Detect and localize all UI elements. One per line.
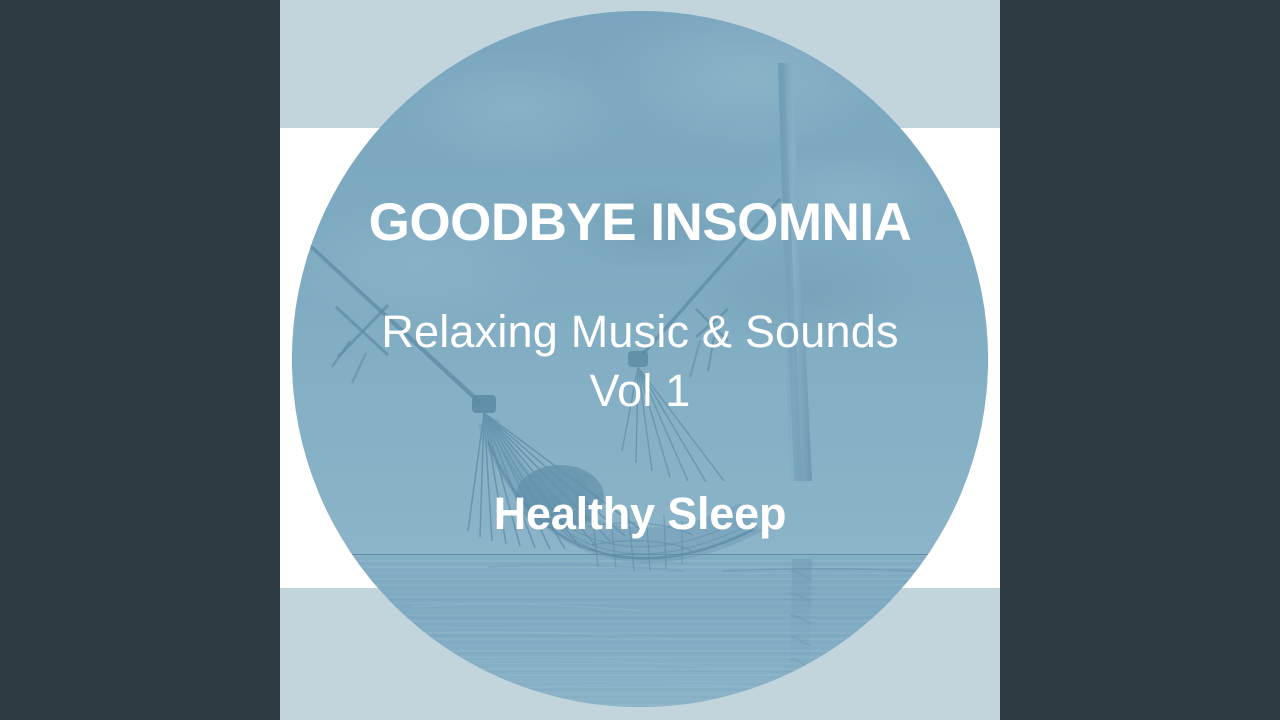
album-subtitle: Relaxing Music & Sounds Vol 1 [280, 302, 1000, 421]
letterbox-bar-right [1000, 0, 1280, 720]
album-artist-name: Healthy Sleep [280, 488, 1000, 540]
letterbox-bar-left [0, 0, 280, 720]
album-subtitle-line-2: Vol 1 [280, 361, 1000, 420]
video-player-frame: GOODBYE INSOMNIA Relaxing Music & Sounds… [0, 0, 1280, 720]
artwork-text-overlay: GOODBYE INSOMNIA Relaxing Music & Sounds… [280, 0, 1000, 720]
album-title: GOODBYE INSOMNIA [280, 194, 1000, 251]
album-artwork: GOODBYE INSOMNIA Relaxing Music & Sounds… [280, 0, 1000, 720]
album-subtitle-line-1: Relaxing Music & Sounds [280, 302, 1000, 361]
